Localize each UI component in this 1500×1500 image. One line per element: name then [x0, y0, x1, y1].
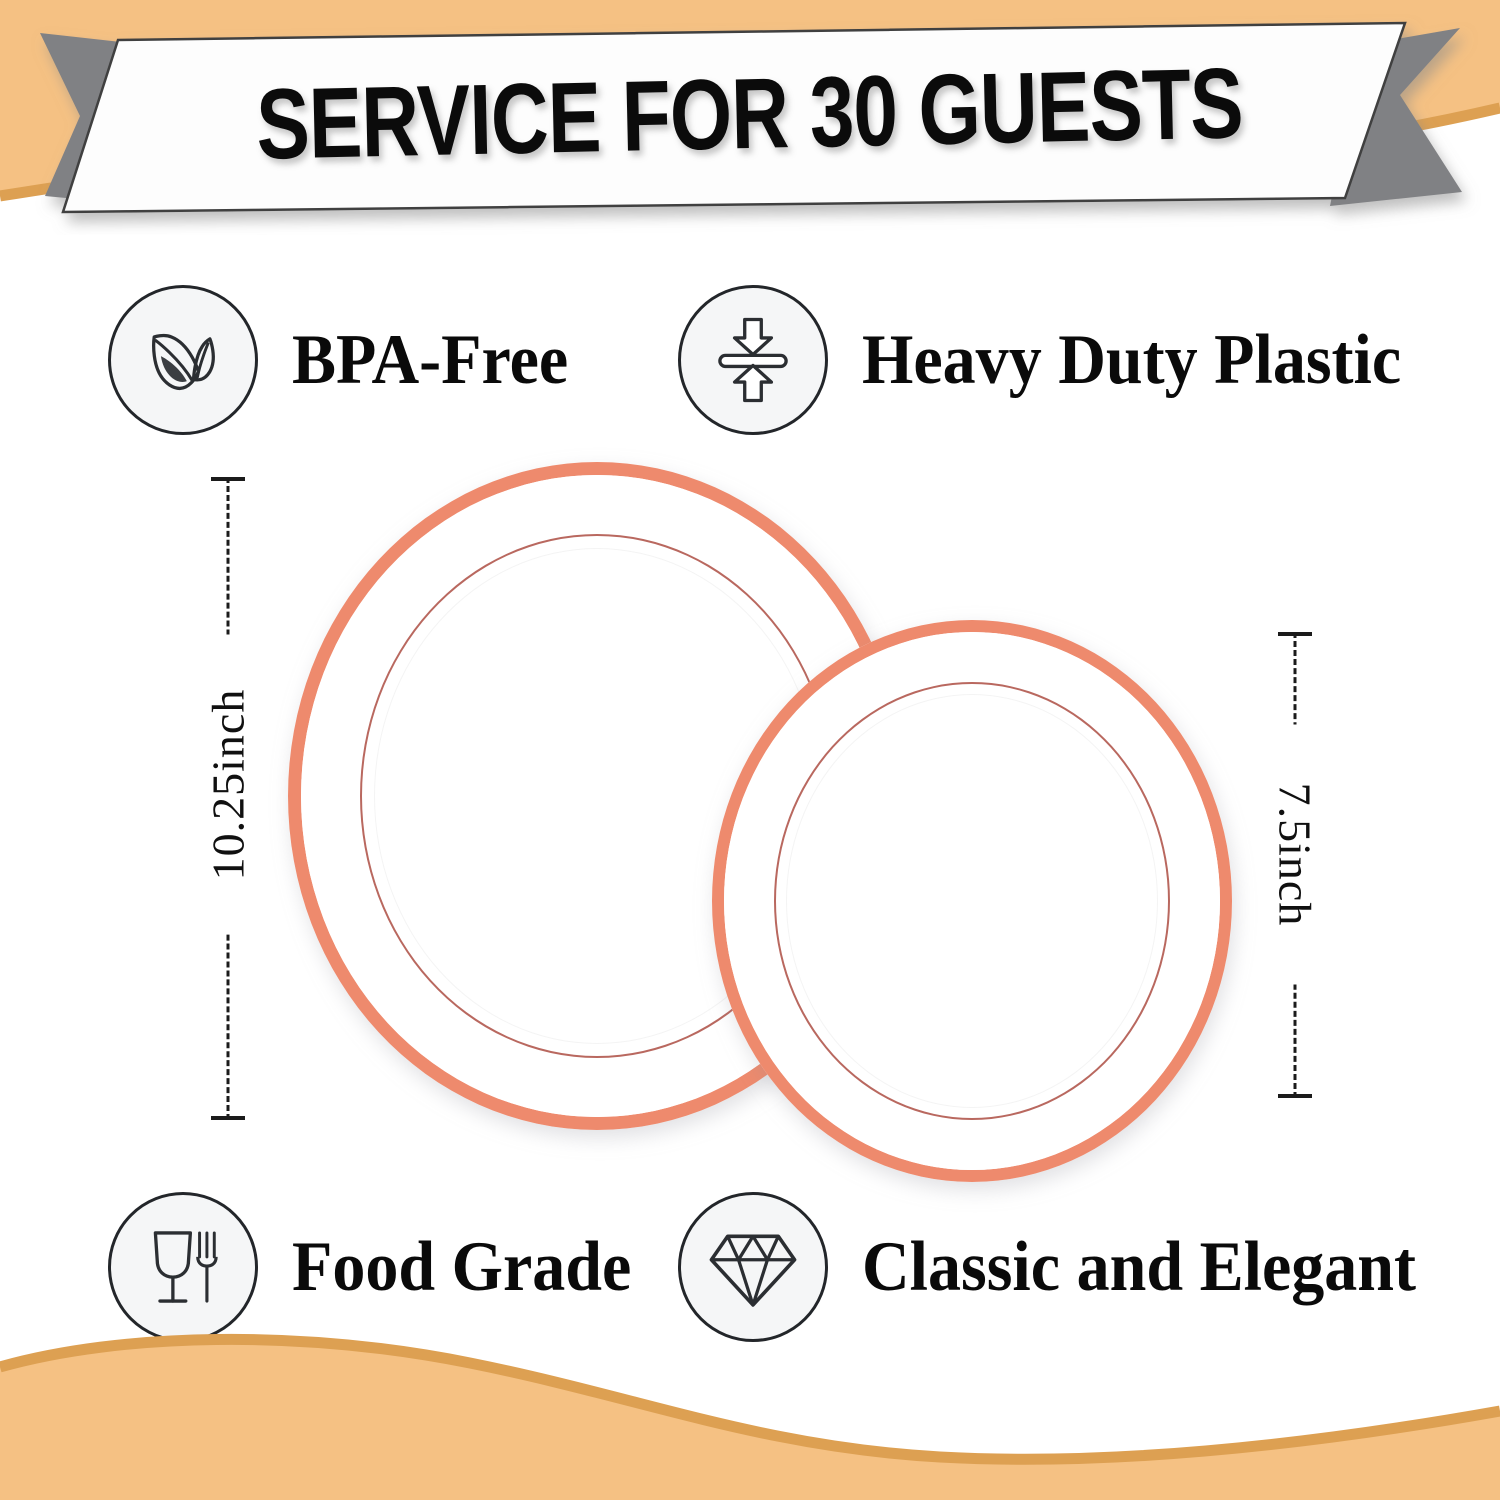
leaf-icon [135, 312, 231, 408]
infographic-canvas: SERVICE FOR 30 GUESTS BPA-Free [0, 0, 1500, 1500]
page-title: SERVICE FOR 30 GUESTS [256, 53, 1244, 174]
diamond-icon [706, 1223, 800, 1311]
dimension-dinner-plate: 10.25inch [208, 477, 248, 1120]
feature-label-classic-and-elegant: Classic and Elegant [862, 1232, 1416, 1303]
compression-arrows-icon [707, 312, 799, 408]
feature-classic-and-elegant[interactable]: Classic and Elegant [678, 1192, 1458, 1342]
diamond-icon-badge [678, 1192, 828, 1342]
feature-row-top: BPA-Free Heavy Duty Plastic [0, 285, 1500, 450]
dimension-cap-bottom [211, 1116, 245, 1120]
leaf-icon-badge [108, 285, 258, 435]
salad-plate[interactable] [712, 620, 1232, 1182]
dimension-salad-plate: 7.5inch [1275, 632, 1315, 1098]
banner: SERVICE FOR 30 GUESTS [0, 0, 1500, 235]
dimension-label-dinner-plate: 10.25inch [196, 635, 261, 935]
glass-and-fork-icon [137, 1220, 229, 1314]
feature-label-food-grade: Food Grade [292, 1232, 631, 1303]
feature-row-bottom: Food Grade Classic and Elegant [0, 1192, 1500, 1357]
banner-title-wrap: SERVICE FOR 30 GUESTS [0, 0, 1500, 251]
feature-heavy-duty-plastic[interactable]: Heavy Duty Plastic [678, 285, 1442, 435]
dimension-cap-bottom [1278, 1094, 1312, 1098]
feature-label-heavy-duty-plastic: Heavy Duty Plastic [862, 325, 1401, 396]
dimension-label-salad-plate: 7.5inch [1263, 725, 1328, 985]
feature-label-bpa-free: BPA-Free [292, 325, 568, 396]
feature-food-grade[interactable]: Food Grade [108, 1192, 657, 1342]
glass-and-fork-icon-badge [108, 1192, 258, 1342]
compression-arrows-icon-badge [678, 285, 828, 435]
salad-plate-well [786, 694, 1158, 1108]
feature-bpa-free[interactable]: BPA-Free [108, 285, 589, 435]
